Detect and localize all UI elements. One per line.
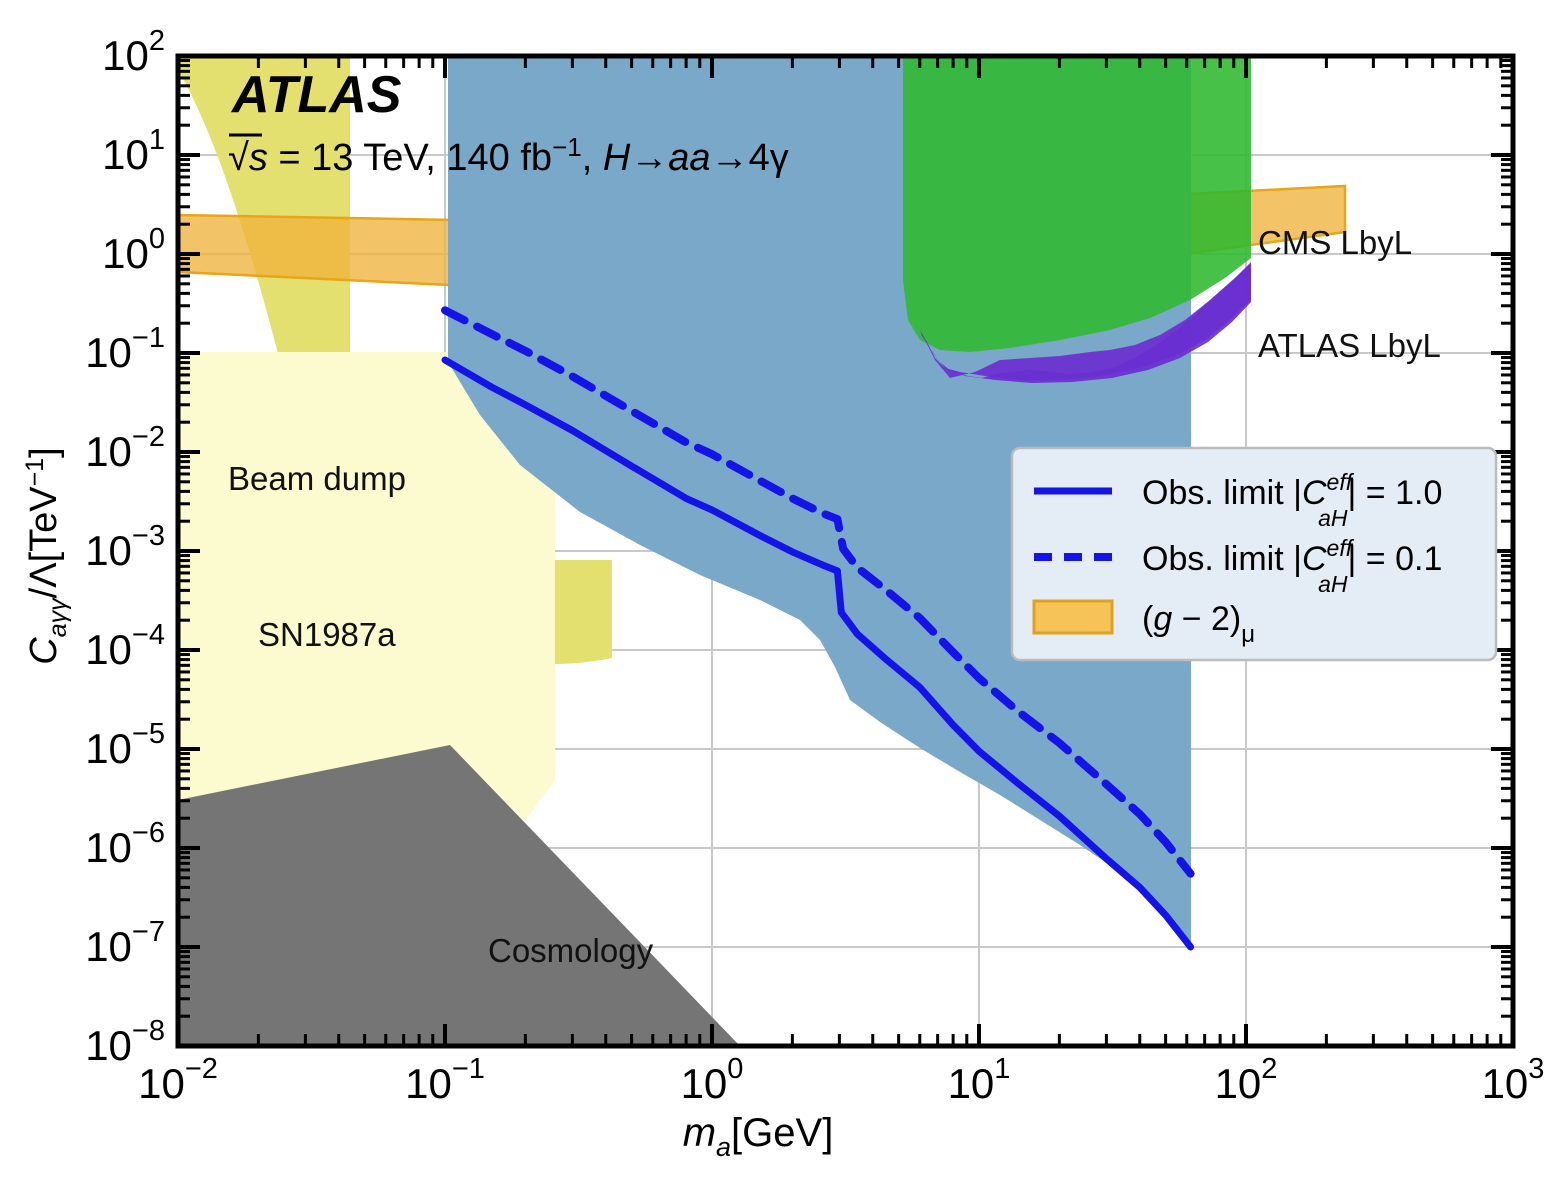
legend-text-pre-0: Obs. limit | (1142, 474, 1302, 512)
higgs-symbol: H (603, 137, 631, 179)
y-tick-mantissa: 10 (85, 923, 132, 970)
label-beam-dump: Beam dump (228, 460, 406, 497)
y-tick-mantissa: 10 (102, 32, 149, 79)
x-tick-exponent: −1 (452, 1053, 485, 1085)
y-tick-exponent: −7 (132, 916, 165, 948)
x-tick-exponent: 3 (1528, 1053, 1544, 1085)
label-cosmology: Cosmology (488, 932, 654, 969)
y-tick-mantissa: 10 (85, 428, 132, 475)
legend-text-post-0: | = 1.0 (1348, 474, 1443, 512)
x-tick-mantissa: 10 (1482, 1060, 1529, 1107)
y-tick-exponent: −5 (132, 718, 165, 750)
legend-sym-2: g (1153, 600, 1172, 638)
arrow-2: → (711, 137, 749, 179)
x-tick-exponent: 1 (994, 1053, 1010, 1085)
region-sn1987a-block (178, 400, 555, 745)
svg-text:√s = 13 TeV, 140 fb−1, H→aa→4γ: √s = 13 TeV, 140 fb−1, H→aa→4γ (228, 132, 789, 179)
y-tick-mantissa: 10 (102, 230, 149, 277)
y-tick-mantissa: 10 (85, 329, 132, 376)
y-tick-exponent: 1 (149, 124, 165, 156)
legend-sub-1: aH (1318, 571, 1348, 597)
legend: Obs. limit |CeffaH| = 1.0 Obs. limit |Ce… (1012, 448, 1496, 660)
sqrt-glyph: √ (228, 137, 249, 179)
x-label-sub-a: a (716, 1132, 731, 1162)
legend-text-post-1: | = 0.1 (1348, 540, 1443, 578)
y-tick-exponent: −6 (132, 817, 165, 849)
label-sn1987a: SN1987a (258, 616, 396, 653)
subtitle: √s = 13 TeV, 140 fb−1, H→aa→4γ (228, 132, 789, 179)
chart-root: ATLAS √s = 13 TeV, 140 fb−1, H→aa→4γ Bea… (0, 0, 1556, 1182)
legend-text-pre-2: ( (1142, 600, 1154, 638)
y-tick-mantissa: 10 (85, 626, 132, 673)
sqrt-s: s (249, 137, 268, 179)
y-tick-exponent: −4 (132, 619, 165, 651)
y-tick-mantissa: 10 (85, 824, 132, 871)
x-tick-exponent: −2 (185, 1053, 218, 1085)
y-tick-mantissa: 10 (85, 1022, 132, 1069)
aa-symbol: aa (668, 137, 710, 179)
x-tick-mantissa: 10 (948, 1060, 995, 1107)
y-label-slash-lambda: /Λ (23, 562, 65, 599)
y-tick-exponent: −2 (132, 421, 165, 453)
y-label-sub: aγγ (44, 597, 72, 637)
exclusion-plot-svg: ATLAS √s = 13 TeV, 140 fb−1, H→aa→4γ Bea… (0, 0, 1556, 1182)
x-tick-mantissa: 10 (681, 1060, 728, 1107)
legend-swatch-patch (1034, 601, 1112, 633)
x-label-m: m (683, 1111, 716, 1155)
legend-text-mid-2: − 2) (1172, 600, 1241, 638)
legend-sub-2: μ (1241, 621, 1255, 648)
x-tick-exponent: 0 (727, 1053, 743, 1085)
y-tick-exponent: −8 (132, 1015, 165, 1047)
y-tick-exponent: 0 (149, 223, 165, 255)
y-tick-mantissa: 10 (85, 725, 132, 772)
four-gamma: 4γ (749, 137, 789, 179)
subtitle-comma: , (582, 137, 603, 179)
y-tick-exponent: 2 (149, 25, 165, 57)
legend-sub-0: aH (1318, 505, 1348, 531)
subtitle-rest: = 13 TeV, 140 fb (268, 137, 552, 179)
x-axis-label: ma[GeV] (683, 1111, 834, 1162)
x-tick-mantissa: 10 (138, 1060, 185, 1107)
atlas-watermark: ATLAS (230, 66, 402, 124)
y-tick-exponent: −1 (132, 322, 165, 354)
arrow-1: → (630, 137, 668, 179)
y-tick-exponent: −3 (132, 520, 165, 552)
x-tick-mantissa: 10 (405, 1060, 452, 1107)
y-tick-mantissa: 10 (102, 131, 149, 178)
lumi-exponent: −1 (552, 132, 582, 162)
label-cms-lbyl: CMS LbyL (1258, 224, 1412, 261)
y-label-unit: [TeV (23, 486, 65, 563)
x-tick-mantissa: 10 (1215, 1060, 1262, 1107)
y-label-C: C (23, 637, 65, 665)
legend-text-pre-1: Obs. limit | (1142, 540, 1302, 578)
y-label-unit-close: ] (23, 447, 65, 458)
label-atlas-lbyl: ATLAS LbyL (1258, 327, 1441, 364)
y-tick-mantissa: 10 (85, 527, 132, 574)
x-tick-exponent: 2 (1261, 1053, 1277, 1085)
x-label-unit: [GeV] (731, 1111, 833, 1155)
y-label-unit-exp: −1 (21, 458, 49, 487)
